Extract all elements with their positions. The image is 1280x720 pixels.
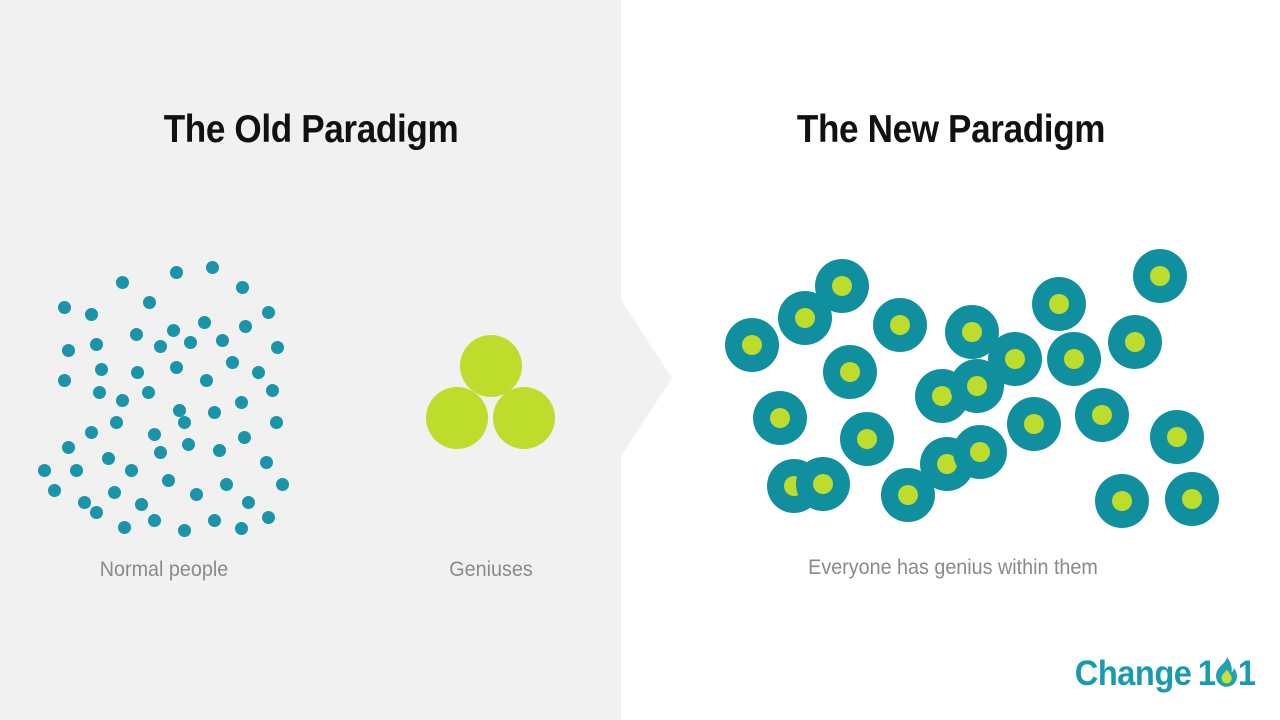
normal-person-dot: [167, 324, 180, 337]
page-title-new-paradigm: The New Paradigm: [655, 108, 1247, 152]
genius-circle: [493, 387, 555, 449]
normal-person-dot: [220, 478, 233, 491]
person-with-genius-circle: [988, 332, 1042, 386]
normal-person-dot: [162, 474, 175, 487]
genius-core-dot: [1125, 332, 1145, 352]
genius-core-dot: [832, 276, 852, 296]
normal-person-dot: [208, 406, 221, 419]
normal-person-dot: [78, 496, 91, 509]
normal-person-dot: [58, 374, 71, 387]
person-with-genius-circle: [873, 298, 927, 352]
person-with-genius-circle: [953, 425, 1007, 479]
normal-person-dot: [198, 316, 211, 329]
normal-person-dot: [62, 441, 75, 454]
genius-core-dot: [1182, 489, 1202, 509]
normal-person-dot: [235, 522, 248, 535]
normal-person-dot: [276, 478, 289, 491]
caption-everyone-has-genius: Everyone has genius within them: [678, 556, 1229, 580]
brand-digit-one-right: 1: [1238, 654, 1256, 693]
brand-word-change: Change: [1075, 654, 1192, 693]
normal-person-dot: [271, 341, 284, 354]
normal-people-dot-cluster: [36, 262, 296, 502]
normal-person-dot: [266, 384, 279, 397]
genius-core-dot: [742, 335, 762, 355]
normal-person-dot: [213, 444, 226, 457]
person-with-genius-circle: [1007, 397, 1061, 451]
normal-person-dot: [170, 266, 183, 279]
normal-person-dot: [102, 452, 115, 465]
person-with-genius-circle: [796, 457, 850, 511]
person-with-genius-circle: [1165, 472, 1219, 526]
normal-person-dot: [148, 514, 161, 527]
normal-person-dot: [142, 386, 155, 399]
normal-person-dot: [200, 374, 213, 387]
person-with-genius-circle: [1032, 277, 1086, 331]
genius-core-dot: [967, 376, 987, 396]
normal-person-dot: [143, 296, 156, 309]
normal-person-dot: [116, 276, 129, 289]
normal-person-dot: [48, 484, 61, 497]
genius-core-dot: [840, 362, 860, 382]
genius-core-dot: [1112, 491, 1132, 511]
normal-person-dot: [154, 446, 167, 459]
genius-core-dot: [1150, 266, 1170, 286]
person-with-genius-circle: [840, 412, 894, 466]
genius-core-dot: [898, 485, 918, 505]
normal-person-dot: [178, 524, 191, 537]
everyone-circle-cluster: [722, 246, 1230, 504]
genius-core-dot: [1092, 405, 1112, 425]
normal-person-dot: [242, 496, 255, 509]
normal-person-dot: [110, 416, 123, 429]
person-with-genius-circle: [1133, 249, 1187, 303]
normal-person-dot: [262, 306, 275, 319]
normal-person-dot: [208, 514, 221, 527]
normal-person-dot: [184, 336, 197, 349]
normal-person-dot: [135, 498, 148, 511]
normal-person-dot: [173, 404, 186, 417]
normal-person-dot: [270, 416, 283, 429]
normal-person-dot: [239, 320, 252, 333]
person-with-genius-circle: [1047, 332, 1101, 386]
brand-wordmark: Change1 1: [1075, 656, 1256, 695]
genius-core-dot: [970, 442, 990, 462]
normal-person-dot: [148, 428, 161, 441]
normal-person-dot: [93, 386, 106, 399]
slide-canvas: The Old Paradigm The New Paradigm Normal…: [0, 0, 1280, 720]
normal-person-dot: [38, 464, 51, 477]
normal-person-dot: [235, 396, 248, 409]
normal-person-dot: [95, 363, 108, 376]
person-with-genius-circle: [1150, 410, 1204, 464]
normal-person-dot: [206, 261, 219, 274]
genius-core-dot: [1024, 414, 1044, 434]
caption-geniuses: Geniuses: [378, 558, 604, 582]
genius-core-dot: [795, 308, 815, 328]
person-with-genius-circle: [815, 259, 869, 313]
normal-person-dot: [216, 334, 229, 347]
person-with-genius-circle: [1075, 388, 1129, 442]
person-with-genius-circle: [823, 345, 877, 399]
flame-icon: [1214, 656, 1238, 694]
person-with-genius-circle: [725, 318, 779, 372]
normal-person-dot: [190, 488, 203, 501]
genius-circle: [460, 335, 522, 397]
genius-core-dot: [932, 386, 952, 406]
genius-core-dot: [1005, 349, 1025, 369]
normal-person-dot: [252, 366, 265, 379]
normal-person-dot: [131, 366, 144, 379]
genius-core-dot: [1167, 427, 1187, 447]
genius-core-dot: [1049, 294, 1069, 314]
normal-person-dot: [118, 521, 131, 534]
genius-core-dot: [813, 474, 833, 494]
genius-core-dot: [1064, 349, 1084, 369]
normal-person-dot: [130, 328, 143, 341]
normal-person-dot: [116, 394, 129, 407]
normal-person-dot: [108, 486, 121, 499]
normal-person-dot: [170, 361, 183, 374]
normal-person-dot: [262, 511, 275, 524]
normal-person-dot: [85, 308, 98, 321]
person-with-genius-circle: [1108, 315, 1162, 369]
normal-person-dot: [58, 301, 71, 314]
page-title-old-paradigm: The Old Paradigm: [31, 108, 591, 152]
normal-person-dot: [70, 464, 83, 477]
normal-person-dot: [226, 356, 239, 369]
person-with-genius-circle: [753, 391, 807, 445]
normal-person-dot: [178, 416, 191, 429]
normal-person-dot: [125, 464, 138, 477]
caption-normal-people: Normal people: [51, 558, 277, 582]
normal-person-dot: [182, 438, 195, 451]
genius-core-dot: [770, 408, 790, 428]
person-with-genius-circle: [1095, 474, 1149, 528]
normal-person-dot: [62, 344, 75, 357]
genius-core-dot: [890, 315, 910, 335]
genius-core-dot: [962, 322, 982, 342]
normal-person-dot: [154, 340, 167, 353]
genius-circle: [426, 387, 488, 449]
genius-core-dot: [857, 429, 877, 449]
normal-person-dot: [85, 426, 98, 439]
brand-logo[interactable]: Change1 1: [1062, 652, 1262, 698]
normal-person-dot: [90, 506, 103, 519]
geniuses-circle-group: [428, 336, 556, 458]
normal-person-dot: [236, 281, 249, 294]
normal-person-dot: [238, 431, 251, 444]
normal-person-dot: [90, 338, 103, 351]
normal-person-dot: [260, 456, 273, 469]
brand-digit-one-left: 1: [1198, 654, 1216, 693]
